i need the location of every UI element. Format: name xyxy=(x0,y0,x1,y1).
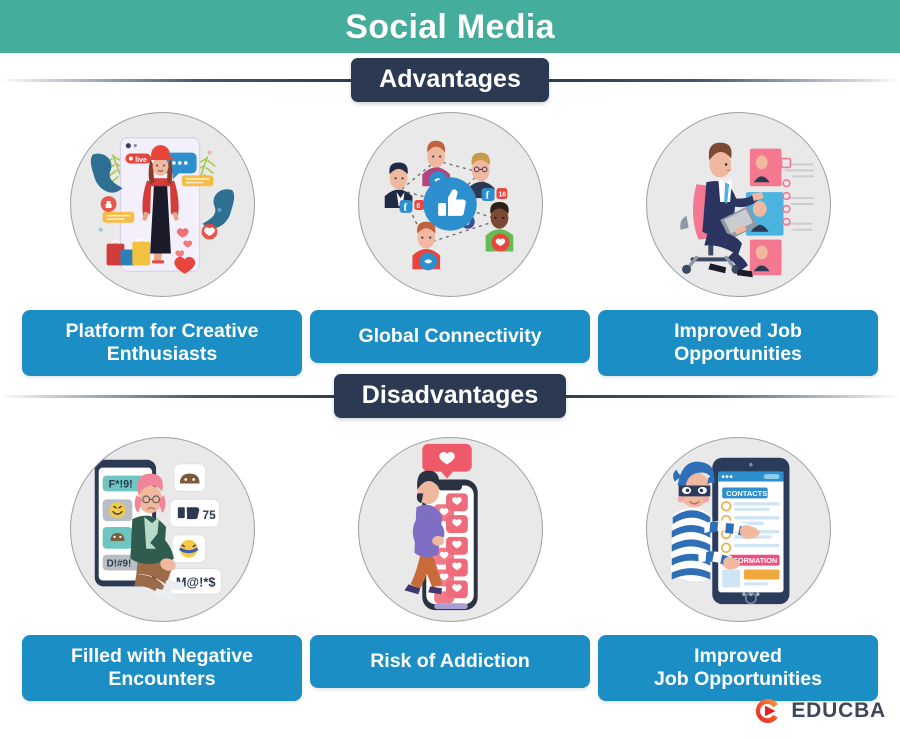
section-divider-disadvantages: Disadvantages xyxy=(0,373,900,419)
card-label: Improved Job Opportunities xyxy=(598,310,878,376)
cyberbullying-negative-comments-icon: F*!9! D!#9! xyxy=(70,437,255,622)
svg-text:8: 8 xyxy=(416,203,420,210)
educba-logo[interactable]: EDUCBA xyxy=(753,696,886,726)
card-label: Platform for Creative Enthusiasts xyxy=(22,310,302,376)
card-improved-job-opportunities-advantage[interactable]: Improved Job Opportunities xyxy=(598,112,878,376)
educba-play-icon xyxy=(753,696,783,726)
svg-text:D!#9!: D!#9! xyxy=(106,559,131,570)
card-filled-with-negative-encounters[interactable]: F*!9! D!#9! xyxy=(22,437,302,701)
recruiter-reviewing-profiles-icon xyxy=(646,112,831,297)
card-label: Global Connectivity xyxy=(310,310,590,363)
section-divider-advantages: Advantages xyxy=(0,57,900,103)
svg-text:75: 75 xyxy=(202,508,216,522)
data-thief-stealing-information-icon: CONTACTS xyxy=(646,437,831,622)
advantages-card-row: live xyxy=(0,112,900,376)
card-label: Filled with Negative Encounters xyxy=(22,635,302,701)
header-band: Social Media xyxy=(0,0,900,53)
svg-text:F*!9!: F*!9! xyxy=(108,478,132,490)
card-improved-job-opportunities-disadvantage[interactable]: CONTACTS xyxy=(598,437,878,701)
card-label: Improved Job Opportunities xyxy=(598,635,878,701)
card-label: Risk of Addiction xyxy=(310,635,590,688)
phone-addiction-likes-icon xyxy=(358,437,543,622)
educba-wordmark: EDUCBA xyxy=(791,699,886,723)
card-risk-of-addiction[interactable]: Risk of Addiction xyxy=(310,437,590,701)
svg-text:f: f xyxy=(403,201,407,213)
card-platform-for-creative-enthusiasts[interactable]: live xyxy=(22,112,302,376)
svg-text:live: live xyxy=(135,157,147,164)
svg-text:f: f xyxy=(485,190,489,202)
section-badge-disadvantages: Disadvantages xyxy=(334,374,566,417)
svg-text:CONTACTS: CONTACTS xyxy=(726,489,767,498)
live-streaming-influencer-icon: live xyxy=(70,112,255,297)
disadvantages-card-row: F*!9! D!#9! xyxy=(0,437,900,701)
section-badge-advantages: Advantages xyxy=(351,58,549,101)
infographic-page: Social Media Advantages xyxy=(0,0,900,738)
svg-text:16: 16 xyxy=(498,192,506,199)
card-global-connectivity[interactable]: f 16 f 8 xyxy=(310,112,590,376)
social-network-connections-icon: f 16 f 8 xyxy=(358,112,543,297)
page-title: Social Media xyxy=(345,10,555,44)
